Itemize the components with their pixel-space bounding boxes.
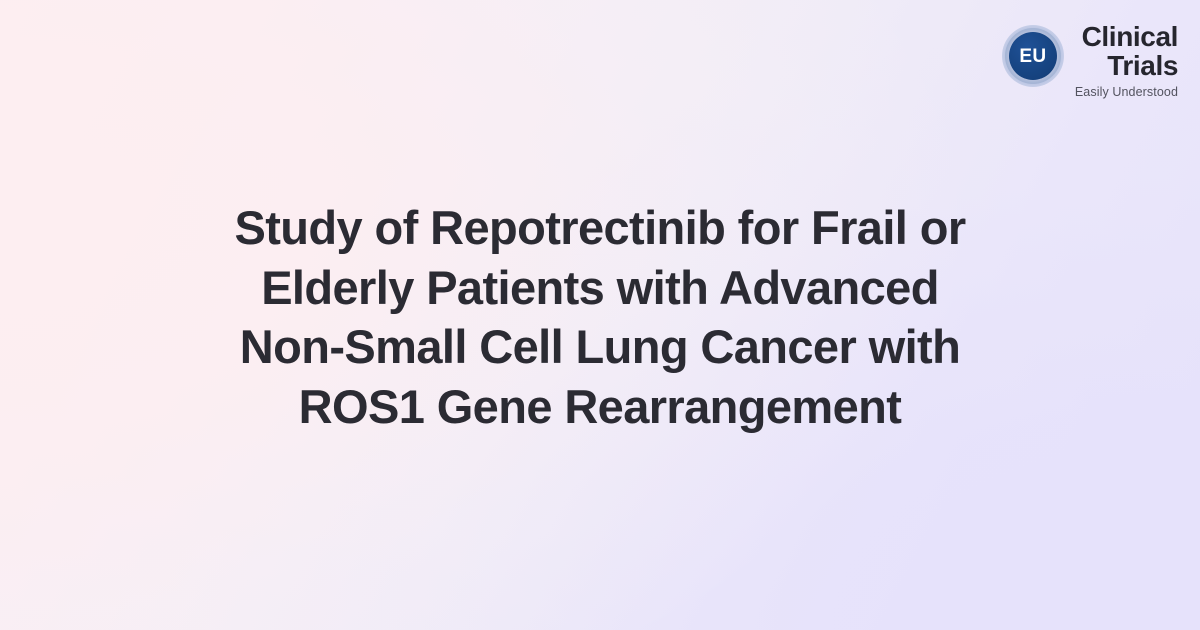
brand-tagline: Easily Understood [1075,85,1178,99]
page-title-line-4: ROS1 Gene Rearrangement [110,377,1090,437]
logo-disc: EU [1009,32,1057,80]
page-title: Study of Repotrectinib for Frail or Elde… [110,198,1090,437]
brand-name-line-2: Trials [1107,52,1178,81]
page-title-line-2: Elderly Patients with Advanced [110,258,1090,318]
logo-eu-label: EU [1019,47,1046,66]
brand-logo[interactable]: EU Clinical Trials Easily Understood [1002,22,1178,99]
brand-name-line-1: Clinical [1082,23,1178,52]
brand-wordmark: Clinical Trials Easily Understood [1075,22,1178,99]
hero-section: Study of Repotrectinib for Frail or Elde… [0,198,1200,437]
page-title-line-1: Study of Repotrectinib for Frail or [110,198,1090,258]
eu-circle-logo-icon: EU [1002,25,1064,87]
page-title-line-3: Non-Small Cell Lung Cancer with [110,317,1090,377]
